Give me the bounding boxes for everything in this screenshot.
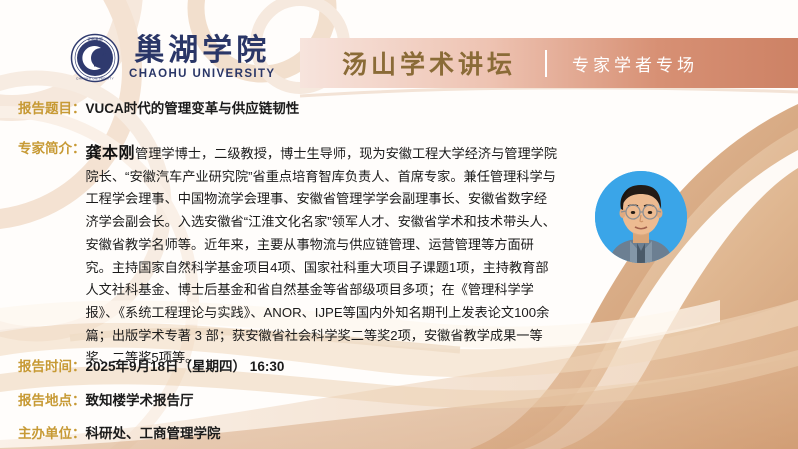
report-organizer-label: 主办单位： [18, 424, 86, 444]
report-title-label: 报告题目： [18, 99, 86, 119]
report-place-row: 报告地点： 致知楼学术报告厅 [18, 391, 194, 411]
report-place-value: 致知楼学术报告厅 [86, 391, 194, 411]
banner-main-title: 汤山学术讲坛 [342, 45, 516, 81]
report-title-value: VUCA时代的管理变革与供应链韧性 [86, 99, 300, 119]
report-time-row: 报告时间： 2025年9月18日（星期四） 16:30 [18, 357, 284, 377]
report-place-label: 报告地点： [18, 391, 86, 411]
speaker-bio-label: 专家简介： [18, 139, 86, 159]
speaker-portrait [595, 171, 687, 263]
report-time-label: 报告时间： [18, 357, 86, 377]
university-name-en: CHAOHU UNIVERSITY [129, 69, 275, 81]
university-logo: 安徽巢湖 CHAOHU UNIVERSITY 巢湖学院 CHAOHU UNIVE… [70, 33, 275, 83]
report-organizer-value: 科研处、工商管理学院 [86, 424, 221, 444]
poster-canvas: 安徽巢湖 CHAOHU UNIVERSITY 巢湖学院 CHAOHU UNIVE… [0, 0, 798, 449]
speaker-bio-body: 龚本刚管理学博士，二级教授，博士生导师，现为安徽工程大学经济与管理学院院长、“安… [86, 139, 559, 370]
poster-header: 安徽巢湖 CHAOHU UNIVERSITY 巢湖学院 CHAOHU UNIVE… [0, 0, 798, 96]
svg-text:CHAOHU UNIVERSITY: CHAOHU UNIVERSITY [76, 77, 114, 81]
report-organizer-row: 主办单位： 科研处、工商管理学院 [18, 424, 221, 444]
svg-text:安徽巢湖: 安徽巢湖 [87, 37, 102, 42]
speaker-bio-row: 专家简介： 龚本刚管理学博士，二级教授，博士生导师，现为安徽工程大学经济与管理学… [18, 139, 578, 370]
lecture-series-banner: 汤山学术讲坛 专家学者专场 [300, 38, 798, 88]
speaker-bio-paragraph: 龚本刚管理学博士，二级教授，博士生导师，现为安徽工程大学经济与管理学院院长、“安… [86, 139, 559, 370]
report-time-value: 2025年9月18日（星期四） 16:30 [86, 357, 285, 377]
banner-subtitle: 专家学者专场 [572, 51, 698, 76]
speaker-name: 龚本刚 [86, 145, 136, 162]
university-name-cn: 巢湖学院 [134, 36, 270, 66]
speaker-portrait-illustration [595, 171, 687, 263]
speaker-bio-text: 管理学博士，二级教授，博士生导师，现为安徽工程大学经济与管理学院院长、“安徽汽车… [86, 146, 558, 365]
report-title-row: 报告题目： VUCA时代的管理变革与供应链韧性 [18, 99, 299, 119]
banner-divider [545, 50, 547, 77]
chaohu-university-seal-icon: 安徽巢湖 CHAOHU UNIVERSITY [70, 33, 120, 83]
